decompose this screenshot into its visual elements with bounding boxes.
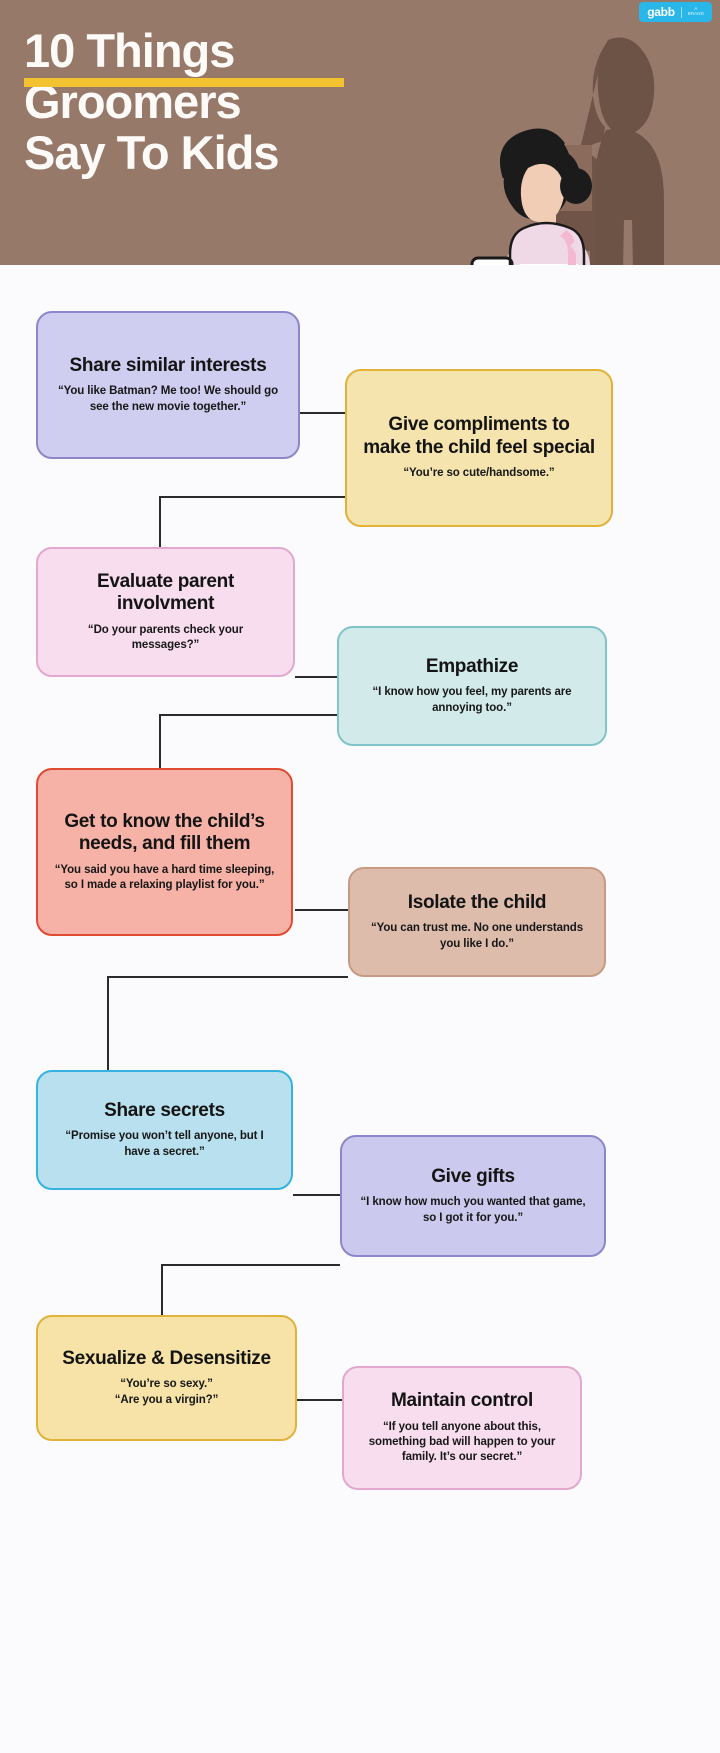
card-title: Sexualize & Desensitize: [62, 1348, 271, 1370]
card-get-to-know-childs-needs[interactable]: Get to know the child’s needs, and fill …: [36, 768, 293, 936]
card-empathize[interactable]: Empathize “I know how you feel, my paren…: [337, 626, 607, 746]
card-sexualize-desensitize[interactable]: Sexualize & Desensitize “You’re so sexy.…: [36, 1315, 297, 1441]
card-quote-line1: “You’re so sexy.”: [120, 1378, 212, 1390]
card-share-similar-interests[interactable]: Share similar interests “You like Batman…: [36, 311, 300, 459]
card-title: Give gifts: [431, 1166, 515, 1188]
card-quote: “I know how you feel, my parents are ann…: [355, 685, 589, 716]
card-quote: “You said you have a hard time sleeping,…: [54, 863, 275, 894]
card-quote: “If you tell anyone about this, somethin…: [360, 1420, 564, 1466]
header-banner: gabb A BRAND 10 Things Groomers Say To K…: [0, 0, 720, 265]
card-quote: “You like Batman? Me too! We should go s…: [54, 384, 282, 415]
header-illustration: [400, 0, 720, 265]
card-maintain-control[interactable]: Maintain control “If you tell anyone abo…: [342, 1366, 582, 1490]
card-give-compliments[interactable]: Give compliments to make the child feel …: [345, 369, 613, 527]
card-title: Evaluate parent involvment: [54, 571, 277, 616]
card-title: Give compliments to make the child feel …: [363, 414, 595, 459]
card-quote: “You can trust me. No one understands yo…: [366, 921, 588, 952]
title-line-1: 10 Things: [24, 26, 444, 77]
title-underline: [24, 78, 344, 87]
card-title: Empathize: [426, 656, 518, 678]
card-title: Isolate the child: [408, 892, 547, 914]
card-title: Get to know the child’s needs, and fill …: [54, 811, 275, 856]
card-title: Share similar interests: [70, 355, 267, 377]
card-quote: “I know how much you wanted that game, s…: [358, 1195, 588, 1226]
card-evaluate-parent-involvment[interactable]: Evaluate parent involvment “Do your pare…: [36, 547, 295, 677]
page-title: 10 Things Groomers Say To Kids: [24, 26, 444, 178]
card-give-gifts[interactable]: Give gifts “I know how much you wanted t…: [340, 1135, 606, 1257]
title-line-3: Say To Kids: [24, 128, 444, 179]
card-isolate-the-child[interactable]: Isolate the child “You can trust me. No …: [348, 867, 606, 977]
card-quote: “Promise you won’t tell anyone, but I ha…: [54, 1129, 275, 1160]
card-quote-line2: “Are you a virgin?”: [115, 1393, 219, 1408]
card-quote: “Do your parents check your messages?”: [54, 623, 277, 654]
card-quote: “You’re so sexy.” “Are you a virgin?”: [115, 1377, 219, 1408]
card-share-secrets[interactable]: Share secrets “Promise you won’t tell an…: [36, 1070, 293, 1190]
card-title: Share secrets: [104, 1100, 225, 1122]
card-quote: “You’re so cute/handsome.”: [403, 466, 554, 481]
card-title: Maintain control: [391, 1390, 533, 1412]
infographic-page: gabb A BRAND 10 Things Groomers Say To K…: [0, 0, 720, 1753]
